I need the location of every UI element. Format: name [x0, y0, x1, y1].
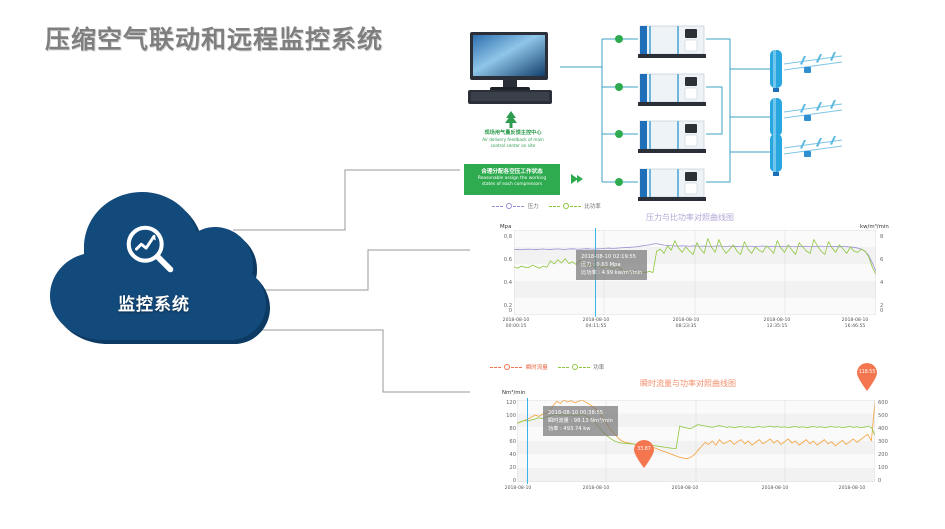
chart2-ytick-left-4: 40 [488, 452, 516, 458]
map-pin-icon [856, 363, 878, 391]
system-topology-diagram: 现场用气量反馈主控中心 Air delivery feedback of mai… [430, 22, 945, 202]
legend-dot-icon [563, 203, 569, 209]
chart1-legend-item-1[interactable]: 比功率 [549, 202, 601, 210]
chart1-legend-item-0[interactable]: 压力 [492, 202, 539, 210]
chart2-legend-item-0[interactable]: 瞬时流量 [490, 363, 548, 371]
chart1-ytick-left-1: 0.6 [488, 257, 512, 263]
chart2-tooltip-line2: 功率 : 493.74 kw [548, 425, 613, 433]
chart1-ytick-right-1: 6 [880, 257, 883, 263]
chart2-xtick-1: 2018-08-10 [572, 486, 620, 492]
chart1-tooltip: 2018-08-10 02:19:55 压力 : 0.63 Mpa 比功率 : … [576, 250, 647, 280]
chart1-xtick-0: 2018-08-1000:00:15 [492, 318, 540, 330]
chart-pressure-vs-specific-power[interactable]: 压力 比功率 压力与比功率对照曲线图 Mpa kw/m³/min 0.8 0.6… [488, 202, 938, 332]
chart1-ytick-left-0: 0.8 [488, 234, 512, 240]
chart2-title: 瞬时流量与功率对照曲线图 [640, 378, 736, 389]
chart2-ytick-left-1: 100 [488, 413, 516, 419]
page-title: 压缩空气联动和远程监控系统 [45, 20, 383, 56]
slide-canvas: 压缩空气联动和远程监控系统 监控系统 [0, 0, 945, 529]
chart2-ytick-right-6: 0 [878, 478, 881, 484]
legend-dash-icon [558, 367, 569, 369]
chart2-marker-max[interactable]: 118.55 [856, 363, 878, 395]
chart2-ytick-right-2: 400 [878, 426, 888, 432]
chart2-tooltip: 2018-08-10 00:38:55 瞬时流量 : 98.13 Nm³/min… [543, 406, 618, 436]
legend-dash-icon [579, 367, 590, 369]
chart2-ytick-right-0: 600 [878, 400, 888, 406]
legend-dot-icon [572, 364, 578, 370]
legend-dash-icon [490, 367, 501, 369]
chart2-xtick-0: 2018-08-10 [494, 486, 542, 492]
monitoring-cloud[interactable]: 监控系统 [38, 192, 298, 347]
compressor-group [638, 26, 706, 201]
legend-dash-icon [570, 206, 581, 208]
chart2-ytick-left-3: 60 [488, 439, 516, 445]
cloud-label: 监控系统 [38, 290, 270, 315]
legend-dot-icon [504, 364, 510, 370]
legend-dash-icon [492, 206, 503, 208]
chart2-legend-label-1: 功率 [593, 365, 604, 371]
status-node-group [615, 35, 623, 186]
chart1-legend-label-1: 比功率 [584, 204, 601, 210]
chart1-xtick-3: 2018-08-1012:35:15 [753, 318, 801, 330]
chart1-ytick-right-4: 0 [880, 308, 883, 314]
chart2-marker-max-value: 118.55 [856, 370, 878, 375]
chart2-tooltip-timestamp: 2018-08-10 00:38:55 [548, 409, 613, 417]
chart1-tooltip-timestamp: 2018-08-10 02:19:55 [581, 253, 642, 261]
chart1-tooltip-line1: 压力 : 0.63 Mpa [581, 261, 642, 269]
legend-dash-icon [513, 206, 524, 208]
air-tank-group [770, 50, 842, 176]
chart2-ytick-right-1: 500 [878, 413, 888, 419]
chart1-plot[interactable] [514, 230, 876, 315]
chart1-xtick-4: 2018-08-1016:46:55 [831, 318, 879, 330]
chart1-xtick-1: 2018-08-1004:11:55 [572, 318, 620, 330]
chart1-legend-label-0: 压力 [528, 204, 539, 210]
magnifier-chart-icon [120, 220, 182, 282]
chart1-ytick-left-2: 0.4 [488, 280, 512, 286]
chart2-marker-min-value: 33.87 [633, 447, 655, 452]
chart2-ytick-right-3: 300 [878, 439, 888, 445]
chart2-legend-item-1[interactable]: 功率 [558, 363, 605, 371]
topology-links [430, 22, 945, 202]
chart1-left-unit: Mpa [500, 224, 511, 230]
chart1-title: 压力与比功率对照曲线图 [646, 212, 734, 223]
chart2-ytick-right-4: 200 [878, 452, 888, 458]
chart2-legend-label-0: 瞬时流量 [526, 365, 548, 371]
chart1-ytick-right-0: 8 [880, 234, 883, 240]
chart1-ytick-right-2: 4 [880, 280, 883, 286]
chart1-ytick-left-4: 0 [488, 308, 512, 314]
map-pin-icon [633, 440, 655, 468]
chart2-marker-min[interactable]: 33.87 [633, 440, 655, 472]
chart2-ytick-right-5: 100 [878, 465, 888, 471]
legend-dash-icon [511, 367, 522, 369]
chart2-left-unit: Nm³/min [502, 390, 525, 396]
legend-dash-icon [549, 206, 560, 208]
chart2-tooltip-line1: 瞬时流量 : 98.13 Nm³/min [548, 417, 613, 425]
chart2-ytick-left-5: 20 [488, 465, 516, 471]
chart-flow-vs-power[interactable]: 瞬时流量 功率 瞬时流量与功率对照曲线图 Nm³/min 120 100 80 … [488, 362, 938, 527]
chart2-cursor-line [527, 398, 528, 484]
chart2-xtick-4: 2018-08-10 [828, 486, 876, 492]
chart1-xtick-2: 2018-08-1008:23:35 [662, 318, 710, 330]
chart1-legend[interactable]: 压力 比功率 [492, 202, 609, 210]
chart2-xtick-2: 2018-08-10 [661, 486, 709, 492]
chart2-ytick-left-2: 80 [488, 426, 516, 432]
chart2-ytick-left-6: 0 [488, 478, 516, 484]
chart2-xtick-3: 2018-08-10 [751, 486, 799, 492]
chart1-tooltip-line2: 比功率 : 4.99 kw/m³/min [581, 269, 642, 277]
chart2-legend[interactable]: 瞬时流量 功率 [490, 363, 612, 371]
chart2-ytick-left-0: 120 [488, 400, 516, 406]
legend-dot-icon [506, 203, 512, 209]
